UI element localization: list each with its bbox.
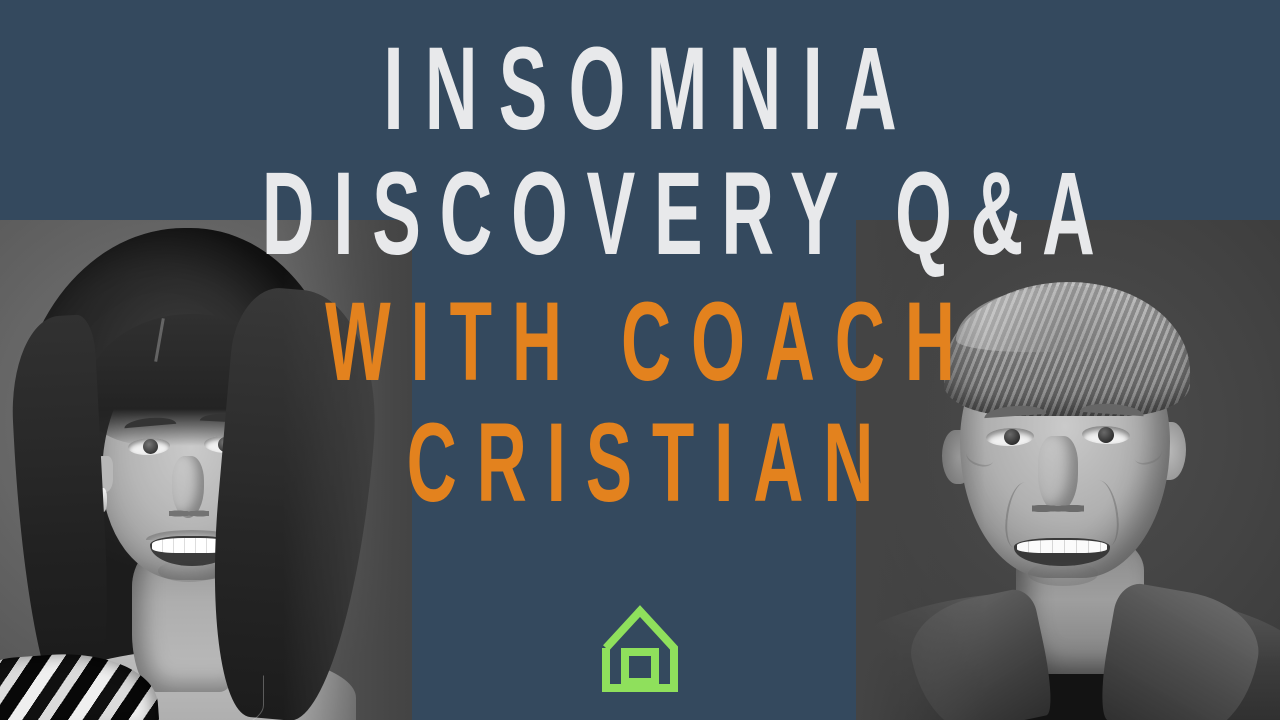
man-portrait-image (856, 220, 1280, 720)
man-chin (1028, 562, 1098, 586)
woman-iris-left (143, 439, 158, 454)
woman-chin (158, 560, 220, 582)
woman-portrait-image (0, 220, 412, 720)
man-iris-left (1004, 429, 1020, 445)
man-iris-right (1098, 427, 1114, 443)
man-teeth (1017, 540, 1107, 553)
man-nostrils (1032, 502, 1084, 515)
woman-portrait (0, 220, 412, 720)
house-inner-square (625, 652, 655, 682)
woman-nostrils (169, 508, 209, 519)
house-logo (600, 600, 680, 696)
man-nose (1038, 436, 1078, 512)
house-logo-icon (600, 600, 680, 696)
man-portrait (856, 220, 1280, 720)
video-thumbnail: INSOMNIA DISCOVERY Q&A WITH COACH CRISTI… (0, 0, 1280, 720)
